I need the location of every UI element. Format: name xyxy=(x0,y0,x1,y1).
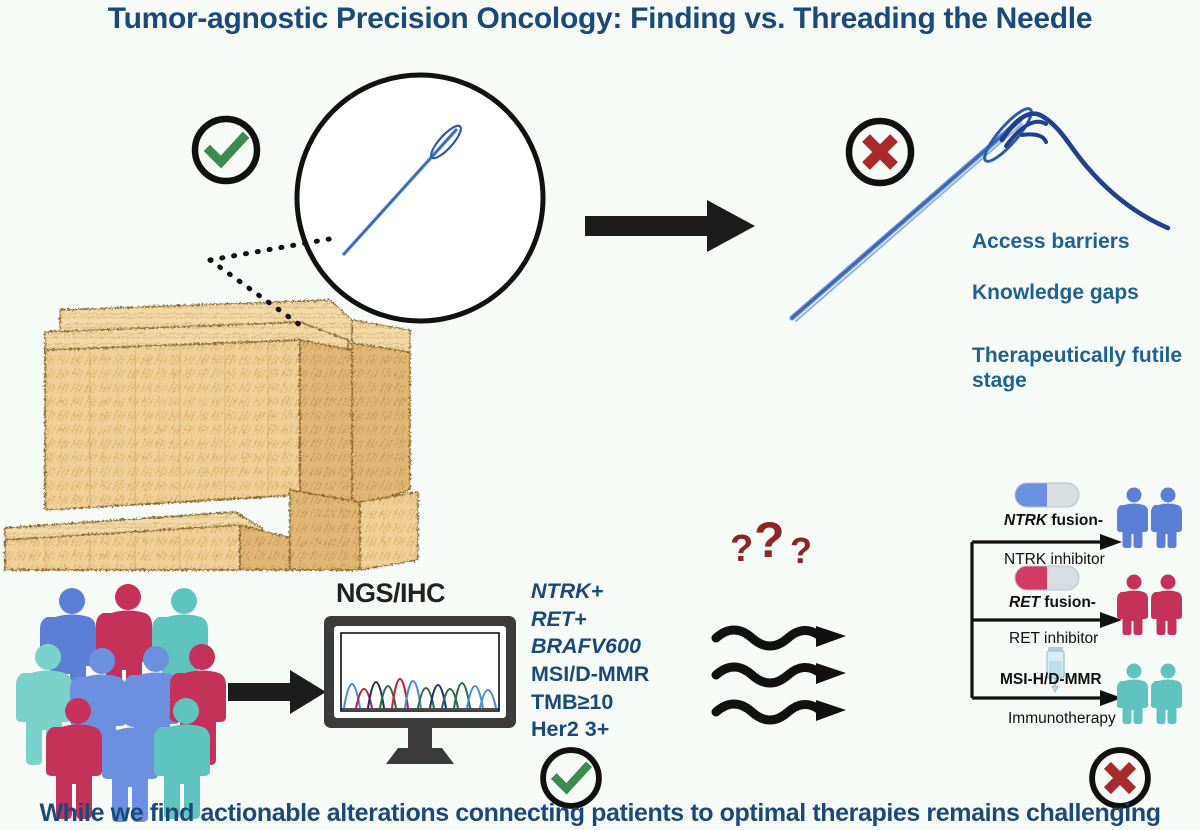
treatment-suffix-ret: fusion- xyxy=(1040,594,1096,611)
biomarker-item: MSI/D-MMR xyxy=(531,661,649,689)
treatment-biomarker-ret: RET fusion- xyxy=(1009,594,1096,612)
outcome-patients-ret xyxy=(1118,573,1188,635)
process-arrow-to-assay xyxy=(228,668,328,716)
treatment-gene-ntrk: NTRK xyxy=(1004,512,1047,529)
question-marks-icon: ? ? ? xyxy=(728,515,838,575)
biomarker-item: Her2 3+ xyxy=(531,716,649,744)
treatment-suffix-ntrk: fusion- xyxy=(1047,512,1103,529)
biomarker-list: NTRK+ RET+ BRAFV600 MSI/D-MMR TMB≥10 Her… xyxy=(531,578,649,744)
outcome-patients-ntrk xyxy=(1118,486,1188,548)
biomarker-item: NTRK+ xyxy=(531,578,649,606)
barrier-futile-stage-line1: Therapeutically futile xyxy=(972,344,1182,369)
svg-text:?: ? xyxy=(790,530,812,571)
capsule-pill-icon-ntrk xyxy=(1013,481,1083,509)
assay-label: NGS/IHC xyxy=(336,578,445,609)
biomarker-item: RET+ xyxy=(531,606,649,634)
biomarker-item: BRAFV600 xyxy=(531,633,649,661)
magnifier-leader-lines xyxy=(190,230,450,350)
wavy-arrows-group xyxy=(712,620,872,730)
svg-text:?: ? xyxy=(730,528,753,570)
barrier-futile-stage-line2: stage xyxy=(972,369,1027,394)
capsule-pill-icon-ret xyxy=(1013,564,1083,592)
barrier-access: Access barriers xyxy=(972,230,1130,255)
find-check-badge xyxy=(186,110,266,190)
treatment-biomarker-ntrk: NTRK fusion- xyxy=(1004,512,1103,530)
sequencing-monitor-illustration xyxy=(320,612,520,772)
outcome-patients-msi xyxy=(1118,662,1188,724)
treatment-drug-msi: Immunotherapy xyxy=(1008,710,1116,728)
bottom-caption: While we find actionable alterations con… xyxy=(0,799,1200,828)
biomarker-item: TMB≥10 xyxy=(531,689,649,717)
graphical-abstract: Tumor-agnostic Precision Oncology: Findi… xyxy=(0,0,1200,830)
process-arrow-main xyxy=(585,196,760,256)
treatment-biomarker-msi: MSI-H/D-MMR xyxy=(1000,671,1102,689)
svg-text:?: ? xyxy=(754,512,785,568)
page-title: Tumor-agnostic Precision Oncology: Findi… xyxy=(0,2,1200,36)
barrier-knowledge: Knowledge gaps xyxy=(972,281,1139,306)
patient-crowd-illustration xyxy=(30,585,240,800)
treatment-gene-ret: RET xyxy=(1009,594,1040,611)
